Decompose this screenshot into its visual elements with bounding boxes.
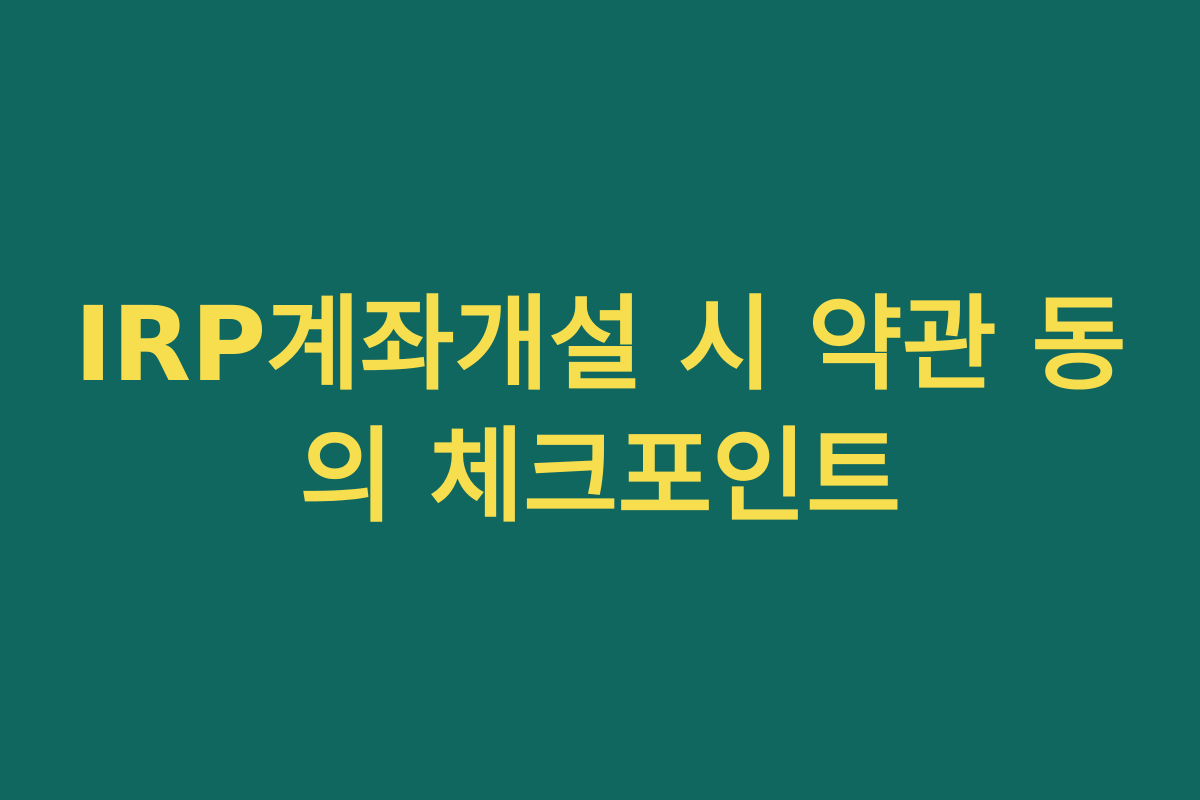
headline-line-2: 의 체크포인트 xyxy=(70,412,1130,544)
headline-line-1: IRP계좌개설 시 약관 동 xyxy=(70,280,1130,412)
headline-block: IRP계좌개설 시 약관 동 의 체크포인트 xyxy=(70,280,1130,544)
thumbnail-card: IRP계좌개설 시 약관 동 의 체크포인트 xyxy=(0,0,1200,800)
